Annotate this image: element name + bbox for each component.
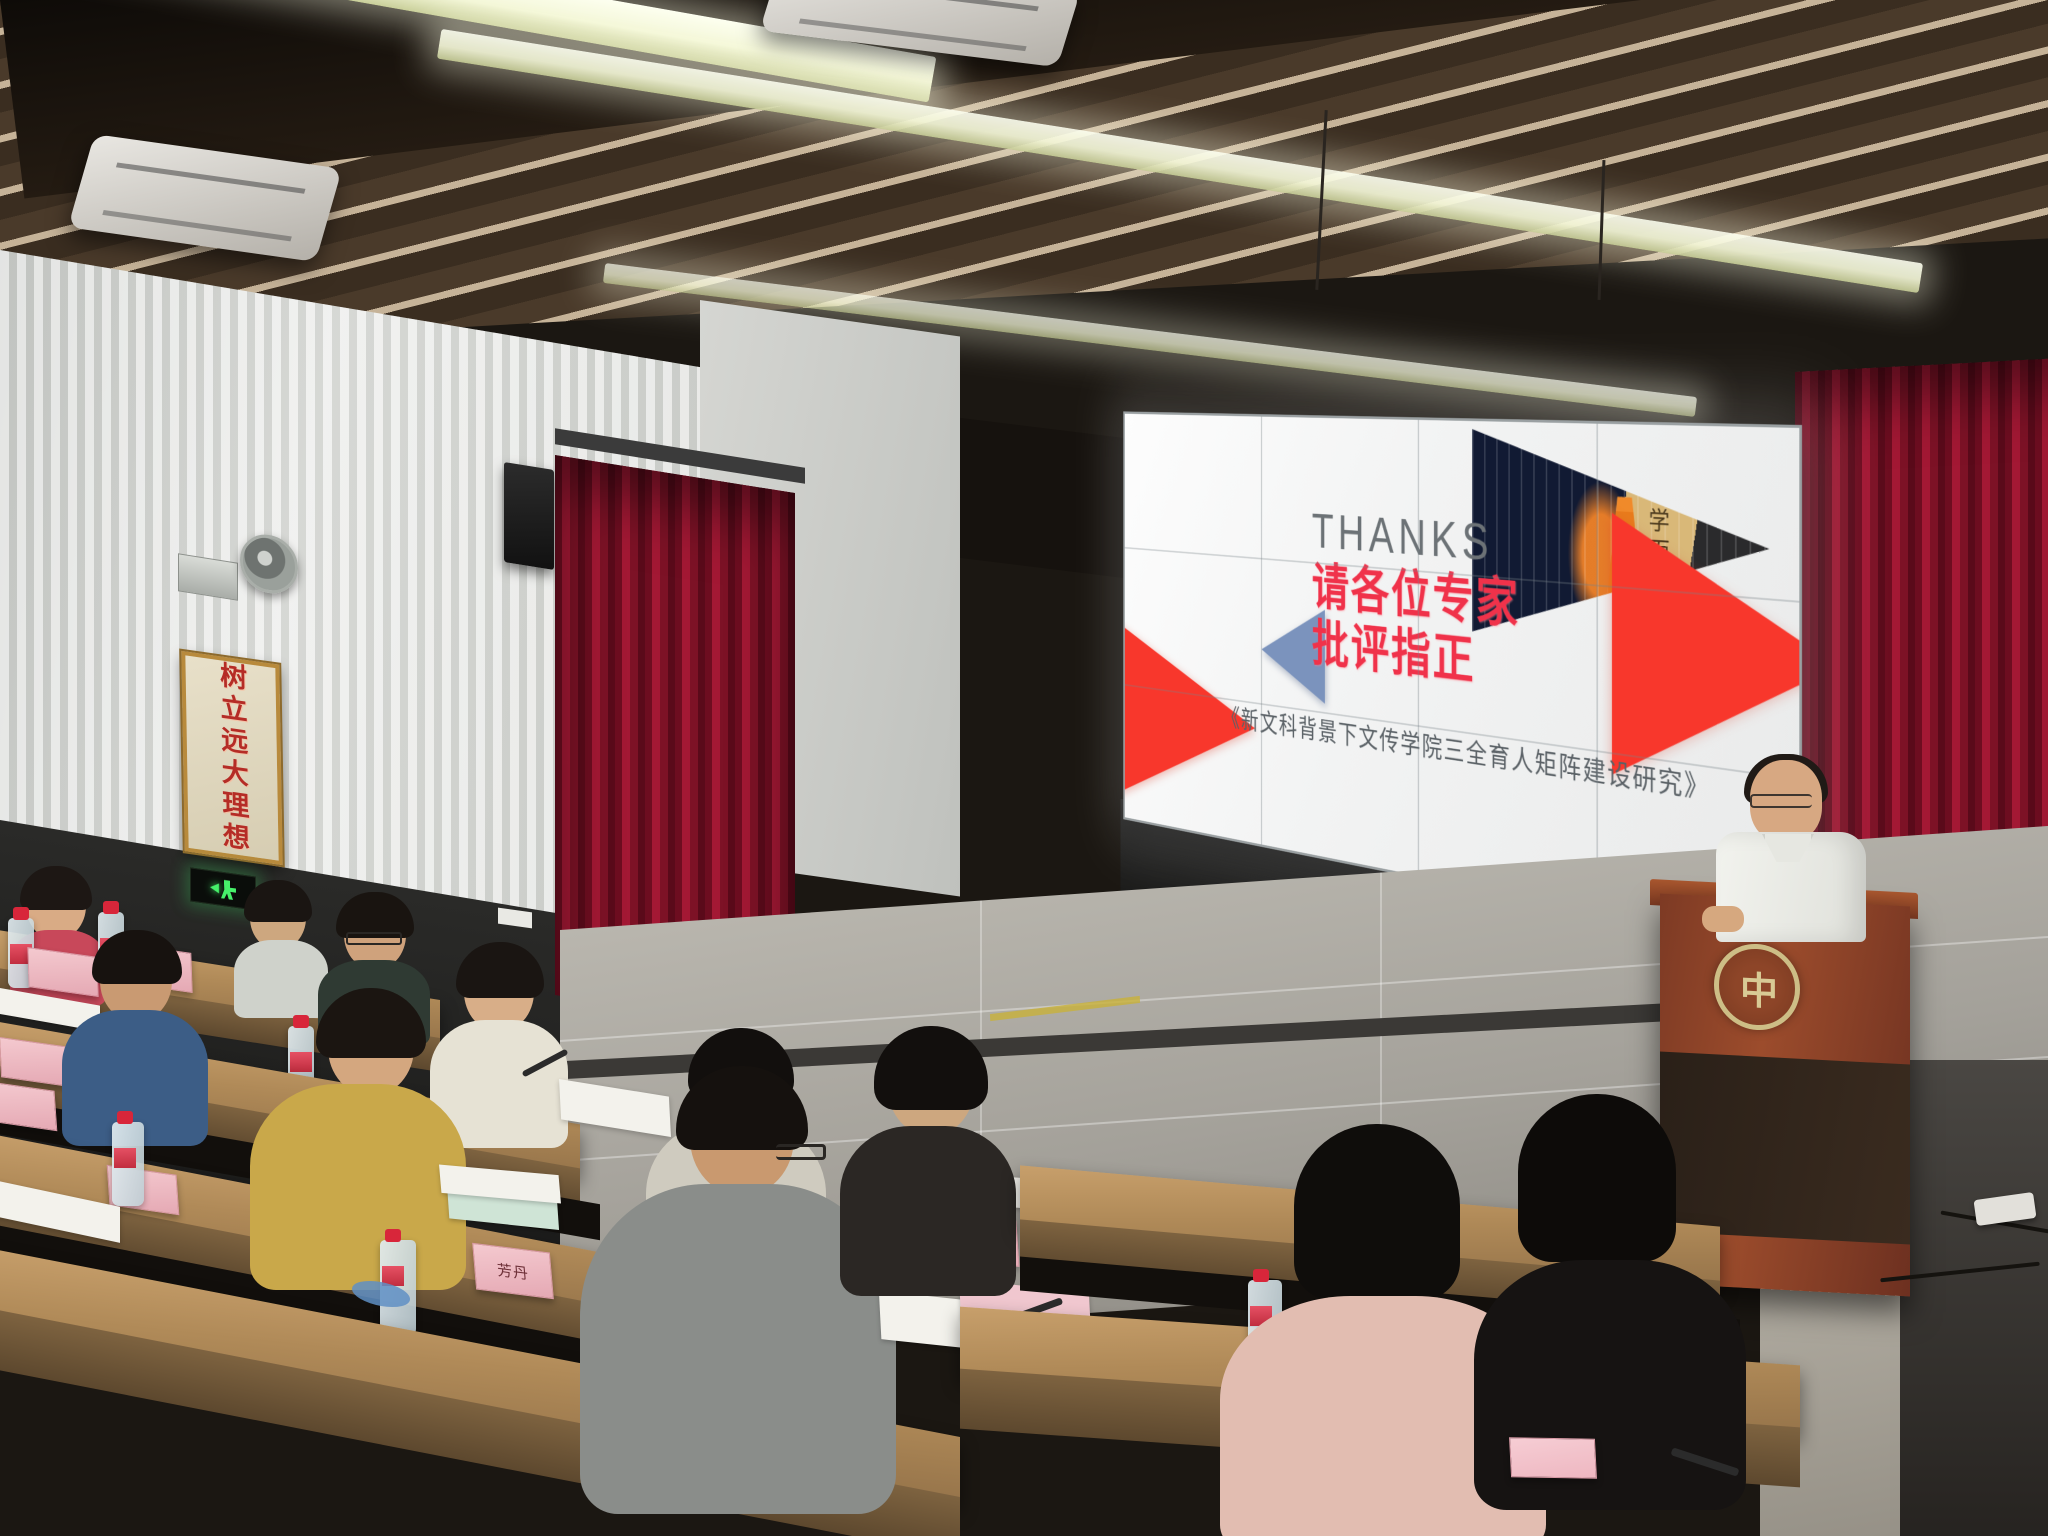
left-arrow-icon xyxy=(210,882,219,893)
wall-banner-sign: 树立远大理想 xyxy=(181,651,282,865)
banner-text: 树立远大理想 xyxy=(211,659,253,857)
name-card-text: 芳丹 xyxy=(496,1258,530,1283)
emblem-glyph: 中 xyxy=(1740,959,1774,1016)
hair xyxy=(244,880,312,922)
name-card xyxy=(1509,1437,1597,1479)
hair xyxy=(20,866,92,910)
torso xyxy=(250,1084,466,1290)
hair xyxy=(1294,1124,1460,1300)
audience-member xyxy=(840,1040,1020,1270)
glasses-icon xyxy=(776,1144,826,1160)
glasses-icon xyxy=(346,932,402,945)
presenter-at-podium xyxy=(1700,760,1890,930)
audience-member xyxy=(60,940,210,1140)
presenter-hand xyxy=(1702,906,1744,932)
lecture-hall-photo: 树立远大理想 学而知 THANKS 请各位专家 批评指正 《新文科背景下文传学院… xyxy=(0,0,2048,1536)
wall-speaker xyxy=(504,462,554,570)
glasses-icon xyxy=(1750,794,1812,808)
audience-member xyxy=(1470,1110,1750,1490)
torso xyxy=(840,1126,1016,1296)
water-bottle xyxy=(112,1122,144,1206)
audience-member xyxy=(250,1000,470,1280)
right-wall-dark xyxy=(1900,1060,2048,1536)
audience-member xyxy=(230,886,330,1006)
hair xyxy=(1518,1094,1676,1262)
